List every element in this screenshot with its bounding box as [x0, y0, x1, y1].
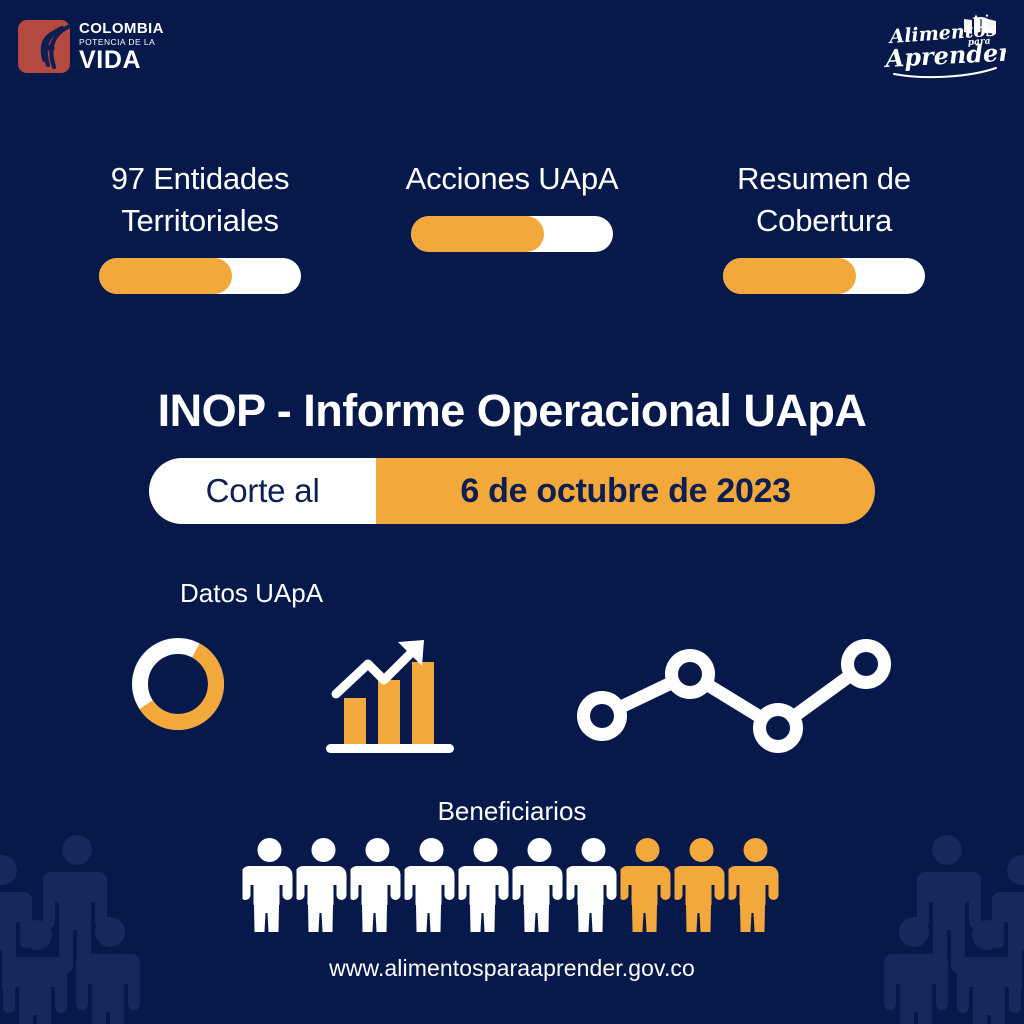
progress-bar[interactable]	[723, 258, 925, 294]
colombia-line-3: VIDA	[79, 48, 164, 73]
person-figure-white	[512, 836, 566, 932]
donut-chart-icon	[126, 632, 230, 736]
person-figure-orange	[674, 836, 728, 932]
card-title: Resumen de Cobertura	[699, 158, 949, 242]
background-crowd-left	[0, 824, 220, 1024]
page-title: INOP - Informe Operacional UApA	[0, 385, 1024, 437]
datos-uapa-label: Datos UApA	[180, 578, 323, 609]
cutoff-date-pill: Corte al 6 de octubre de 2023	[149, 458, 875, 524]
person-figure-orange	[728, 836, 782, 932]
beneficiarios-figures	[240, 836, 785, 932]
cutoff-date-label-section: Corte al	[149, 458, 376, 524]
person-figure-white	[566, 836, 620, 932]
card-title: Acciones UApA	[387, 158, 637, 200]
line-chart-nodes-icon	[560, 628, 908, 756]
person-figure-white	[350, 836, 404, 932]
logo-alimentos-para-aprender[interactable]: Alimentos para Aprender	[884, 14, 1006, 80]
progress-bar[interactable]	[99, 258, 301, 294]
infographic-page: { "page": { "background_color": "#07194a…	[0, 0, 1024, 1024]
bar-chart-growth-icon	[322, 636, 458, 756]
footer-website-url[interactable]: www.alimentosparaaprender.gov.co	[0, 955, 1024, 982]
top-bar: COLOMBIA POTENCIA DE LA VIDA Alimentos p…	[0, 0, 1024, 96]
card-title: 97 Entidades Territoriales	[75, 158, 325, 242]
svg-text:Aprender: Aprender	[884, 37, 1006, 73]
cutoff-date-value-section: 6 de octubre de 2023	[376, 458, 875, 524]
progress-bar-fill	[723, 258, 856, 294]
colombia-line-1: COLOMBIA	[79, 21, 164, 36]
logo-colombia[interactable]: COLOMBIA POTENCIA DE LA VIDA	[18, 20, 164, 73]
beneficiarios-label: Beneficiarios	[0, 796, 1024, 827]
person-figure-orange	[620, 836, 674, 932]
progress-bar-fill	[411, 216, 544, 252]
progress-bar[interactable]	[411, 216, 613, 252]
cutoff-date-value: 6 de octubre de 2023	[460, 472, 790, 511]
person-figure-white	[458, 836, 512, 932]
colombia-signal-arcs-icon	[18, 20, 70, 73]
summary-card-entidades-territoriales[interactable]: 97 Entidades Territoriales	[75, 158, 325, 294]
summary-card-acciones-uapa[interactable]: Acciones UApA	[387, 158, 637, 294]
progress-bar-fill	[99, 258, 232, 294]
summary-card-resumen-cobertura[interactable]: Resumen de Cobertura	[699, 158, 949, 294]
cutoff-date-label: Corte al	[206, 472, 320, 510]
person-figure-white	[296, 836, 350, 932]
person-figure-white	[242, 836, 296, 932]
background-crowd-right	[804, 824, 1024, 1024]
datos-icon-row	[0, 622, 1024, 757]
summary-cards: 97 Entidades Territoriales Acciones UApA…	[0, 158, 1024, 294]
colombia-wordmark: COLOMBIA POTENCIA DE LA VIDA	[79, 21, 164, 73]
person-figure-white	[404, 836, 458, 932]
